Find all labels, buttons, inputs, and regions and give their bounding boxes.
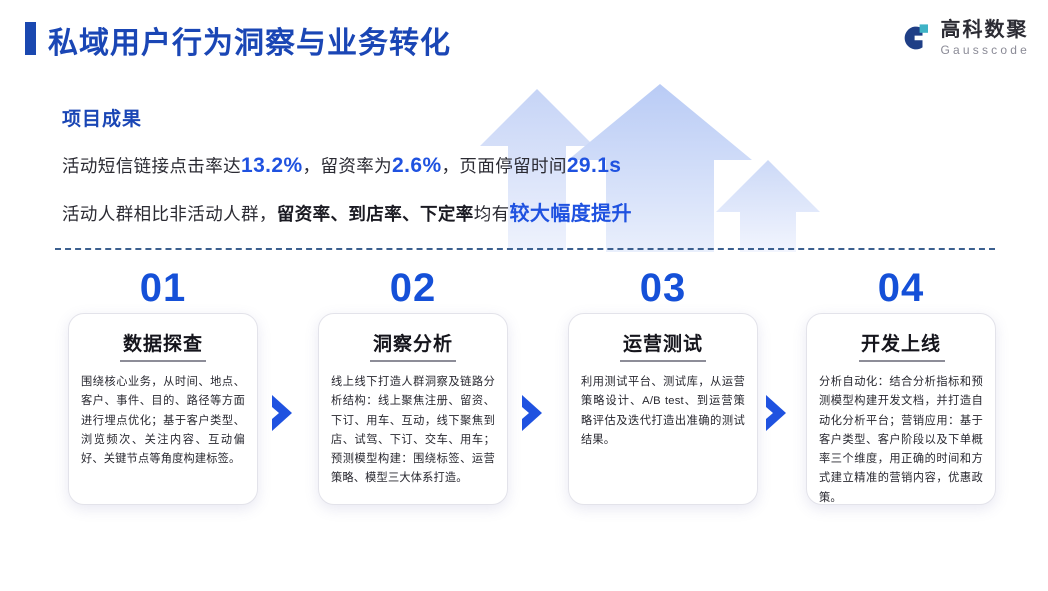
gausscode-logo-icon	[897, 21, 931, 55]
title-accent-bar	[25, 22, 36, 55]
results-l2-text-2: 均有	[474, 204, 510, 224]
chevron-right-icon	[762, 393, 790, 433]
logo-name-cn: 高科数聚	[940, 20, 1030, 40]
step-body: 分析自动化：结合分析指标和预测模型构建开发文档，并打造自动化分析平台；营销应用：…	[819, 373, 983, 508]
results-l2-highlight: 较大幅度提升	[510, 203, 632, 225]
up-arrow-decoration-icon	[716, 160, 820, 252]
results-l1-text-2: ，留资率为	[303, 156, 393, 176]
metric-dwell-time: 29.1s	[567, 154, 622, 177]
step-title-rule	[120, 360, 206, 362]
step-title: 开发上线	[806, 329, 996, 356]
results-block: 项目成果 活动短信链接点击率达13.2%，留资率为2.6%，页面停留时间29.1…	[62, 104, 722, 226]
step-title: 数据探查	[68, 329, 258, 356]
results-heading: 项目成果	[62, 104, 722, 131]
results-line-1: 活动短信链接点击率达13.2%，留资率为2.6%，页面停留时间29.1s	[62, 153, 722, 178]
step-title: 洞察分析	[318, 329, 508, 356]
page-title: 私域用户行为洞察与业务转化	[48, 18, 451, 62]
step-number: 03	[568, 268, 758, 308]
brand-logo: 高科数聚 Gausscode	[897, 20, 1030, 56]
chevron-right-icon	[268, 393, 296, 433]
step-card-03[interactable]: 03 运营测试 利用测试平台、测试库，从运营策略设计、A/B test、到运营策…	[568, 313, 758, 505]
step-title-rule	[370, 360, 456, 362]
logo-name-en: Gausscode	[940, 44, 1030, 56]
results-line-2: 活动人群相比非活动人群，留资率、到店率、下定率均有较大幅度提升	[62, 197, 722, 226]
step-card-01[interactable]: 01 数据探查 围绕核心业务，从时间、地点、客户、事件、目的、路径等方面进行埋点…	[68, 313, 258, 505]
step-body: 围绕核心业务，从时间、地点、客户、事件、目的、路径等方面进行埋点优化；基于客户类…	[81, 373, 245, 469]
step-number: 04	[806, 268, 996, 308]
slide-root: 私域用户行为洞察与业务转化 高科数聚 Gausscode 项目成果 活动短信链接…	[0, 0, 1048, 591]
step-body: 利用测试平台、测试库，从运营策略设计、A/B test、到运营策略评估及迭代打造…	[581, 373, 745, 450]
section-divider	[55, 248, 995, 250]
step-title-rule	[620, 360, 706, 362]
step-number: 01	[68, 268, 258, 308]
results-l2-bold: 留资率、到店率、下定率	[277, 204, 474, 224]
results-l1-text-3: ，页面停留时间	[442, 156, 567, 176]
step-body: 线上线下打造人群洞察及链路分析结构：线上聚焦注册、留资、下订、用车、互动，线下聚…	[331, 373, 495, 489]
step-card-02[interactable]: 02 洞察分析 线上线下打造人群洞察及链路分析结构：线上聚焦注册、留资、下订、用…	[318, 313, 508, 505]
results-l2-text-1: 活动人群相比非活动人群，	[62, 204, 277, 224]
steps-row: 01 数据探查 围绕核心业务，从时间、地点、客户、事件、目的、路径等方面进行埋点…	[0, 268, 1048, 518]
results-l1-text-1: 活动短信链接点击率达	[62, 156, 241, 176]
slide-header: 私域用户行为洞察与业务转化 高科数聚 Gausscode	[0, 0, 1048, 78]
step-number: 02	[318, 268, 508, 308]
step-card-04[interactable]: 04 开发上线 分析自动化：结合分析指标和预测模型构建开发文档，并打造自动化分析…	[806, 313, 998, 505]
metric-click-rate: 13.2%	[241, 154, 303, 177]
metric-retention-rate: 2.6%	[392, 154, 441, 177]
step-title-rule	[859, 360, 945, 362]
chevron-right-icon	[518, 393, 546, 433]
step-title: 运营测试	[568, 329, 758, 356]
